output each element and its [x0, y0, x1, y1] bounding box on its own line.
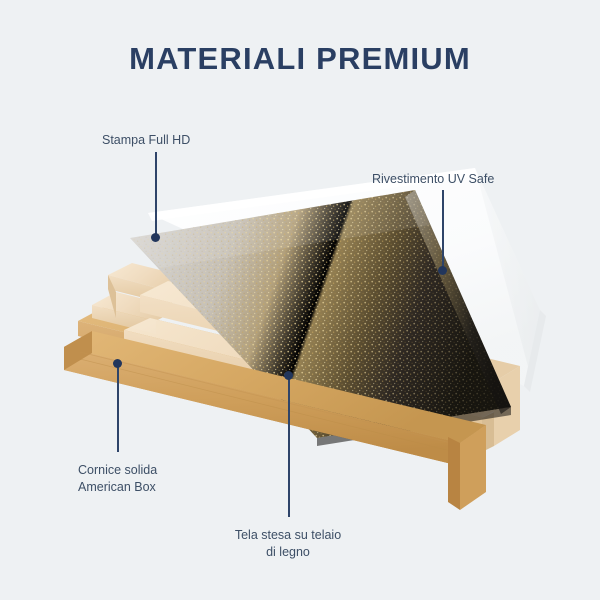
- callout-label-cornice-solida-american-box: Cornice solida American Box: [78, 462, 157, 496]
- exploded-view-illustration: [0, 0, 600, 600]
- callout-dot-tela-stesa-su-telaio-di-legno: [284, 371, 293, 380]
- callout-dot-cornice-solida-american-box: [113, 359, 122, 368]
- callout-leader-stampa-full-hd: [155, 152, 157, 237]
- callout-leader-cornice-solida-american-box: [117, 366, 119, 452]
- callout-dot-stampa-full-hd: [151, 233, 160, 242]
- callout-label-tela-stesa-su-telaio-di-legno: Tela stesa su telaio di legno: [235, 527, 341, 561]
- callout-label-rivestimento-uv-safe: Rivestimento UV Safe: [372, 171, 494, 188]
- callout-label-stampa-full-hd: Stampa Full HD: [102, 132, 190, 149]
- callout-dot-rivestimento-uv-safe: [438, 266, 447, 275]
- callout-leader-tela-stesa-su-telaio-di-legno: [288, 378, 290, 517]
- materials-premium-infographic: MATERIALI PREMIUM: [0, 0, 600, 600]
- callout-leader-rivestimento-uv-safe: [442, 190, 444, 270]
